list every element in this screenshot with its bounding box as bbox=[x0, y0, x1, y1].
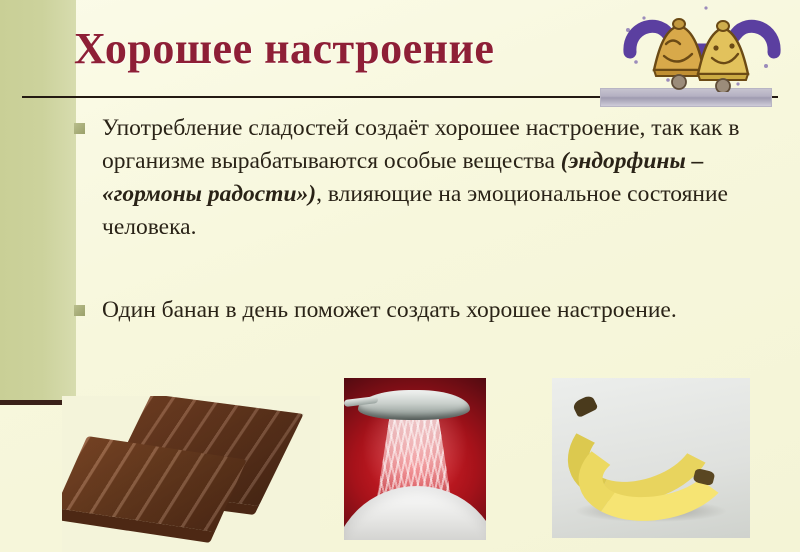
chocolate-bars-photo bbox=[62, 396, 320, 552]
page-title: Хорошее настроение bbox=[74, 18, 594, 80]
bullet-text: Один банан в день поможет создать хороше… bbox=[102, 294, 744, 327]
left-accent-strip bbox=[0, 0, 76, 404]
bells-illustration bbox=[610, 0, 790, 92]
bullet-list: Употребление сладостей создаёт хорошее н… bbox=[74, 112, 744, 327]
sugar-spoon-photo bbox=[344, 378, 486, 540]
bullet-text: Употребление сладостей создаёт хорошее н… bbox=[102, 112, 744, 244]
list-item: Один банан в день поможет создать хороше… bbox=[74, 294, 744, 327]
square-bullet-icon bbox=[74, 123, 85, 134]
slide: Хорошее настроение bbox=[0, 0, 800, 552]
bullet-segment: Один банан в день поможет создать хороше… bbox=[102, 297, 677, 323]
bananas-photo bbox=[552, 378, 750, 538]
square-bullet-icon bbox=[74, 305, 85, 316]
sugar-spoon bbox=[358, 390, 470, 420]
list-item: Употребление сладостей создаёт хорошее н… bbox=[74, 112, 744, 244]
two-bells-icon bbox=[610, 0, 790, 92]
